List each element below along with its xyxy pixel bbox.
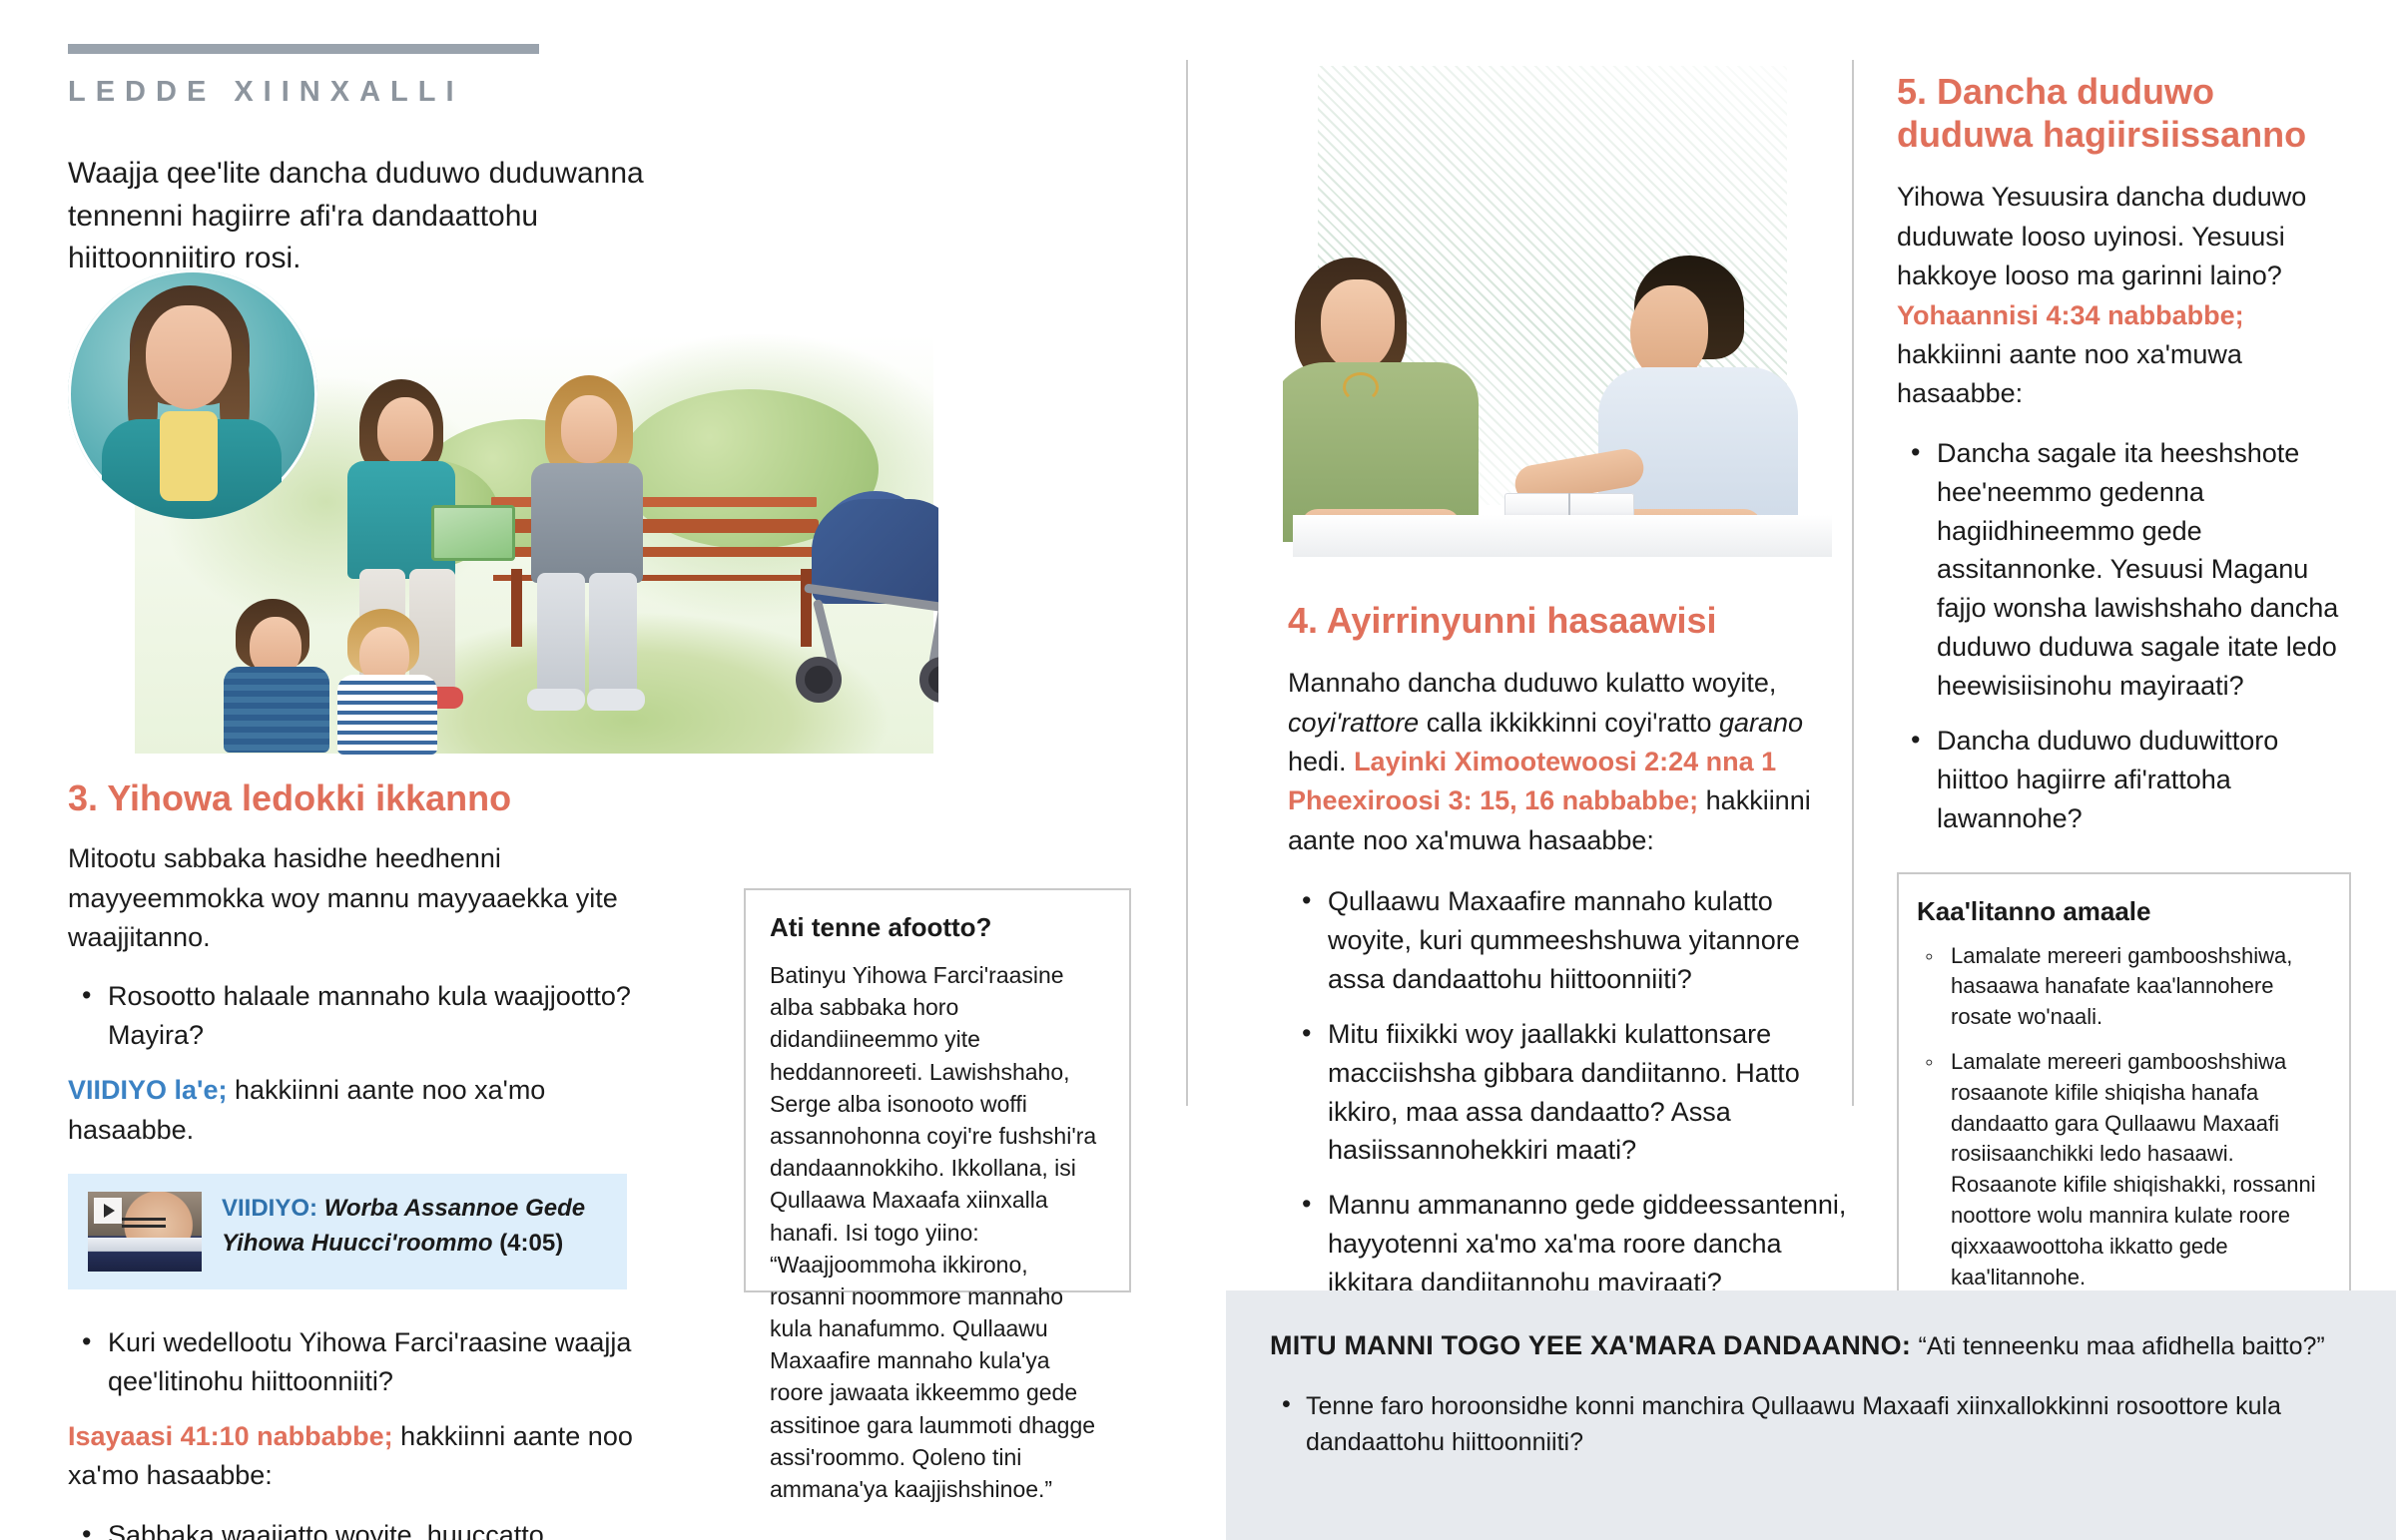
text-plain: Yihowa Yesuusira dancha duduwo duduwate … xyxy=(1897,182,2306,290)
stroller-wheel xyxy=(796,657,842,703)
column-divider xyxy=(1186,60,1188,1106)
sidebox-body: Batinyu Yihowa Farci'raasine alba sabbak… xyxy=(770,959,1105,1505)
text-italic: garano xyxy=(1719,708,1803,738)
glasses-shape xyxy=(122,1218,166,1228)
column-divider xyxy=(1852,60,1854,1106)
book-shape xyxy=(88,1238,202,1272)
video-link-ref[interactable]: VIIDIYO la'e; xyxy=(68,1075,227,1105)
section-5-heading: 5. Dancha duduwo duduwa hagiirsiissanno xyxy=(1897,70,2351,156)
list-item: Rosootto halaale mannaho kula waajjootto… xyxy=(68,977,667,1055)
head xyxy=(561,395,617,463)
bench-leg xyxy=(511,569,522,647)
sidebox-heading: Ati tenne afootto? xyxy=(770,912,1105,943)
list-item: Mitu fiixikki woy jaallakki kulattonsare… xyxy=(1288,1015,1847,1171)
text-plain: hedi. xyxy=(1288,747,1354,776)
couple-bible-study-illustration xyxy=(1283,58,1842,557)
list-item: Lamalate mereeri gambooshshiwa, hasaawa … xyxy=(1917,941,2325,1033)
video-card[interactable]: VIIDIYO: Worba Assannoe Gede Yihowa Huuc… xyxy=(68,1174,627,1289)
scripture-ref[interactable]: Yohaannisi 4:34 nabbabbe; xyxy=(1897,300,2244,330)
shoe xyxy=(527,689,585,711)
torso xyxy=(337,675,437,755)
list-item: Qullaawu Maxaafire mannaho kulatto woyit… xyxy=(1288,882,1847,999)
kicker-label: LEDDE XIINXALLI xyxy=(68,76,707,109)
section-4-bullets: Qullaawu Maxaafire mannaho kulatto woyit… xyxy=(1288,882,1847,1302)
section-3-bullets-2: Kuri wedellootu Yihowa Farci'raasine waa… xyxy=(68,1323,667,1401)
section-3-bullets-3: Sabbaka waajjatto woyite, huuccatto kaa'… xyxy=(68,1516,667,1540)
shoe xyxy=(587,689,645,711)
table-surface xyxy=(1293,515,1832,557)
banner-label: MITU MANNI TOGO YEE XA'MARA DANDAANNO: xyxy=(1270,1330,1911,1360)
list-item: Sabbaka waajjatto woyite, huuccatto kaa'… xyxy=(68,1516,667,1540)
video-intro-line: VIIDIYO la'e; hakkiinni aante noo xa'mo … xyxy=(68,1071,667,1150)
text-plain: Mannaho dancha duduwo kulatto woyite, xyxy=(1288,668,1776,698)
column-left: LEDDE XIINXALLI Waajja qee'lite dancha d… xyxy=(68,44,707,280)
scripture-ref[interactable]: Isayaasi 41:10 nabbabbe; xyxy=(68,1421,393,1451)
circular-inset-portrait xyxy=(68,269,317,519)
torso xyxy=(531,463,643,583)
list-item: Mannu ammananno gede giddeessantenni, ha… xyxy=(1288,1186,1847,1302)
list-item: Dancha sagale ita heeshshote hee'neemmo … xyxy=(1897,434,2351,706)
banner-quote: “Ati tenneenku maa afidhella baitto?” xyxy=(1919,1332,2325,1360)
tablet-device xyxy=(431,505,515,561)
video-thumbnail[interactable] xyxy=(88,1192,202,1272)
list-item: Dancha duduwo duduwittoro hiittoo hagiir… xyxy=(1897,722,2351,838)
stroller-wheel xyxy=(919,657,938,703)
video-caption: VIIDIYO: Worba Assannoe Gede Yihowa Huuc… xyxy=(222,1192,607,1261)
banner-headline: MITU MANNI TOGO YEE XA'MARA DANDAANNO: “… xyxy=(1270,1330,2352,1361)
sidebox2-heading: Kaa'litanno amaale xyxy=(1917,896,2325,927)
park-bench-witnessing-illustration xyxy=(60,269,938,769)
scripture-rest: hakkiinni aante noo xa'muwa hasaabbe: xyxy=(1897,339,2242,408)
torso xyxy=(224,667,329,753)
list-item: Lamalate mereeri gambooshshiwa rosaanote… xyxy=(1917,1047,2325,1292)
leg xyxy=(537,573,585,701)
section-4-paragraph: Mannaho dancha duduwo kulatto woyite, co… xyxy=(1288,664,1847,860)
head xyxy=(146,305,232,409)
section-3-heading: 3. Yihowa ledokki ikkanno xyxy=(68,776,667,819)
video-label: VIIDIYO: xyxy=(222,1195,317,1222)
section-3-paragraph: Mitootu sabbaka hasidhe heedhenni mayyee… xyxy=(68,839,667,957)
stroller xyxy=(804,499,938,699)
section-3-bullets: Rosootto halaale mannaho kula waajjootto… xyxy=(68,977,667,1055)
text-italic: coyi'rattore xyxy=(1288,708,1419,738)
list-item: Kuri wedellootu Yihowa Farci'raasine waa… xyxy=(68,1323,667,1401)
list-item: Tenne faro horoonsidhe konni manchira Qu… xyxy=(1270,1389,2352,1460)
leg xyxy=(589,573,637,701)
intro-paragraph: Waajja qee'lite dancha duduwo duduwanna … xyxy=(68,153,707,280)
section-5-bullets: Dancha sagale ita heeshshote hee'neemmo … xyxy=(1897,434,2351,838)
section-3-scripture-line: Isayaasi 41:10 nabbabbe; hakkiinni aante… xyxy=(68,1417,667,1496)
section-3: 3. Yihowa ledokki ikkanno Mitootu sabbak… xyxy=(68,776,667,1540)
article-page: LEDDE XIINXALLI Waajja qee'lite dancha d… xyxy=(0,0,2396,1540)
video-duration: (4:05) xyxy=(499,1230,563,1257)
head xyxy=(377,397,433,465)
banner-bullets: Tenne faro horoonsidhe konni manchira Qu… xyxy=(1270,1389,2352,1460)
objection-banner: MITU MANNI TOGO YEE XA'MARA DANDAANNO: “… xyxy=(1226,1290,2396,1540)
text-plain: calla ikkikkinni coyi'ratto xyxy=(1419,708,1719,738)
scarf xyxy=(160,411,218,501)
section-4-heading: 4. Ayirrinyunni hasaawisi xyxy=(1288,599,1847,642)
did-you-know-box: Ati tenne afootto? Batinyu Yihowa Farci'… xyxy=(744,888,1131,1292)
play-icon[interactable] xyxy=(94,1198,122,1224)
section-5-paragraph: Yihowa Yesuusira dancha duduwo duduwate … xyxy=(1897,178,2351,413)
necklace xyxy=(1343,372,1379,402)
section-4: 4. Ayirrinyunni hasaawisi Mannaho dancha… xyxy=(1288,599,1847,1318)
head xyxy=(1321,279,1395,371)
title-rule xyxy=(68,44,539,54)
